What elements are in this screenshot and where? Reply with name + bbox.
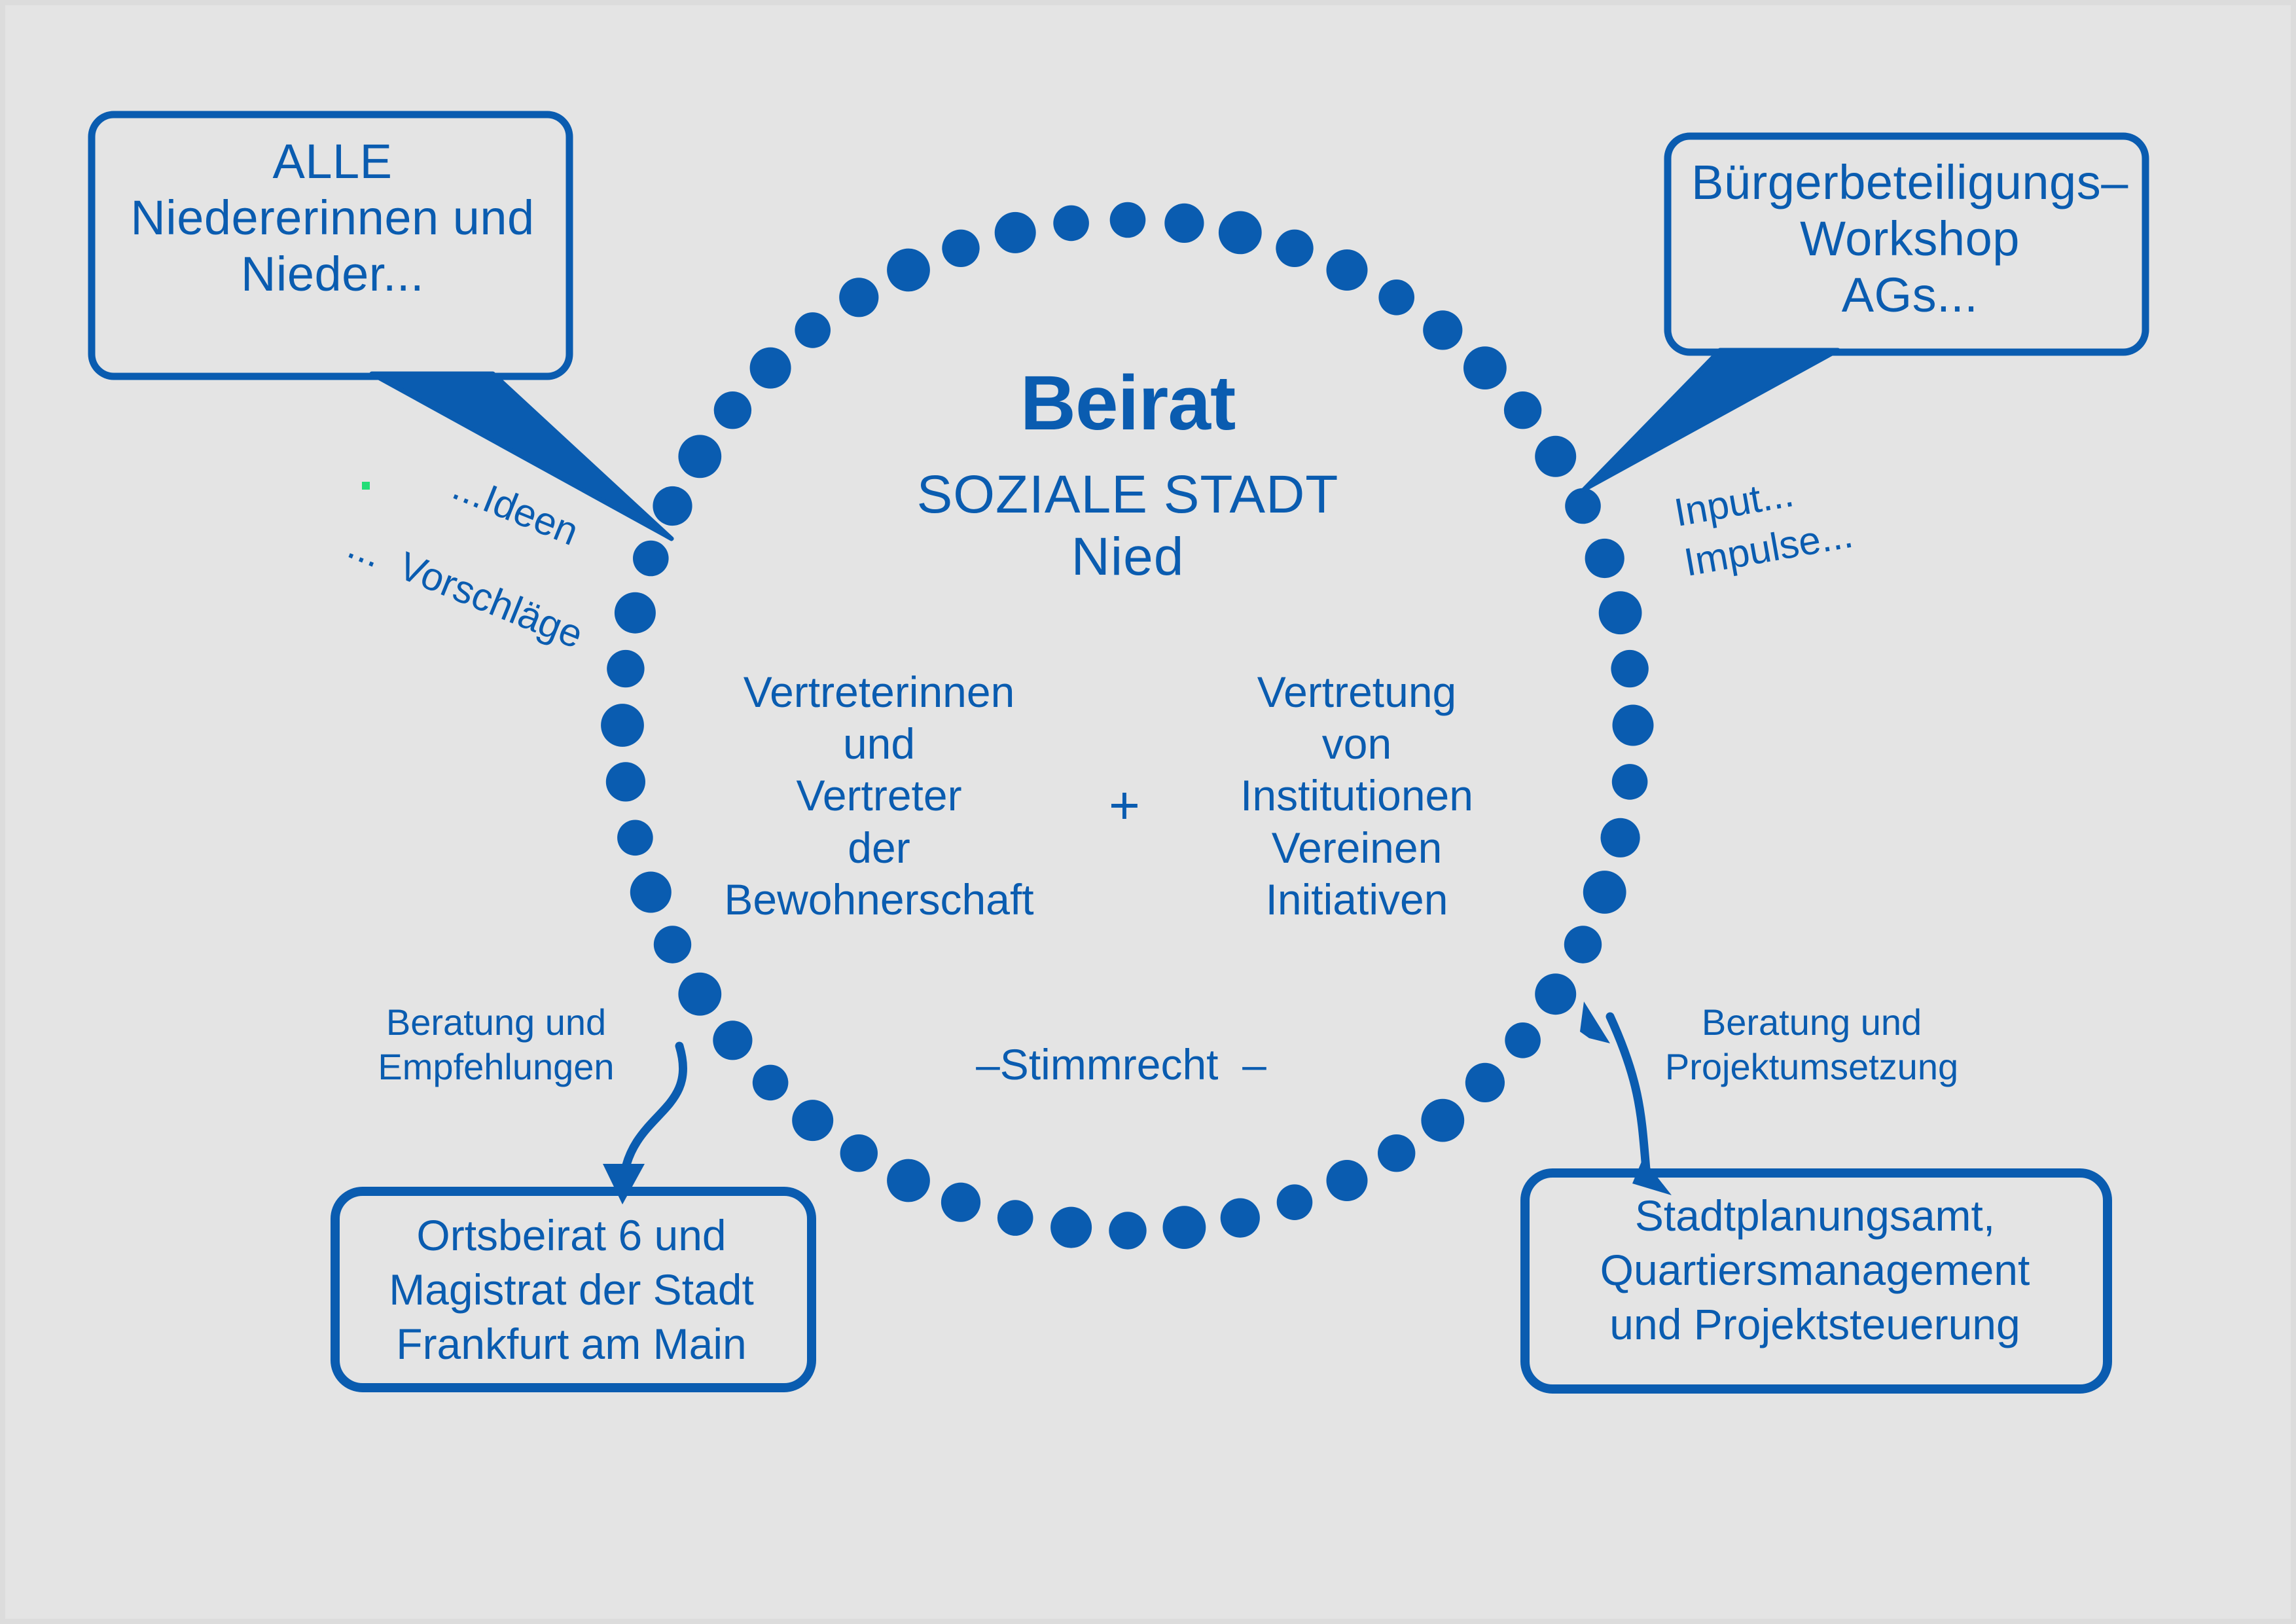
arrow-caption-left: Beratung und Empfehlungen bbox=[359, 1000, 634, 1090]
circle-dot bbox=[1277, 1184, 1313, 1220]
circle-dot bbox=[1050, 1207, 1092, 1248]
circle-dot bbox=[615, 592, 656, 634]
circle-dot bbox=[1564, 926, 1602, 963]
circle-dot bbox=[1423, 310, 1462, 350]
circle-dot bbox=[601, 704, 644, 747]
circle-dot bbox=[1163, 1206, 1206, 1249]
plus-symbol: + bbox=[1072, 774, 1177, 837]
circle-dot bbox=[607, 650, 644, 687]
arrow-left-down-head bbox=[603, 1164, 645, 1204]
circle-dot bbox=[1221, 1199, 1260, 1238]
circle-dot bbox=[942, 230, 979, 267]
circle-dot bbox=[995, 212, 1036, 253]
circle-dot bbox=[1378, 1134, 1415, 1172]
member-group-residents: Vertreterinnen und Vertreter der Bewohne… bbox=[696, 666, 1062, 926]
circle-dot bbox=[1565, 488, 1601, 524]
arrow-right-up-head bbox=[1580, 1001, 1610, 1043]
circle-dot bbox=[617, 820, 653, 856]
page-title: Beirat bbox=[866, 359, 1390, 448]
circle-dot bbox=[753, 1065, 789, 1101]
circle-dot bbox=[839, 278, 878, 317]
circle-dot bbox=[678, 973, 721, 1016]
circle-dot bbox=[1219, 211, 1262, 255]
circle-dot bbox=[997, 1200, 1033, 1236]
bubble-top-right-tail bbox=[1584, 350, 1838, 490]
box-bottom-right-label: Stadtplanungsamt, Quartiersmanagement un… bbox=[1534, 1189, 2096, 1352]
circle-dot bbox=[1109, 1212, 1146, 1249]
circle-dot bbox=[1465, 1063, 1505, 1102]
bubble-top-right-label: Bürgerbeteiligungs– Workshop AGs... bbox=[1681, 154, 2139, 323]
circle-dot bbox=[1164, 204, 1204, 243]
arrow-caption-right: Beratung und Projektumsetzung bbox=[1648, 1000, 1975, 1090]
circle-dot bbox=[654, 926, 691, 963]
circle-dot bbox=[714, 391, 751, 429]
circle-dot bbox=[1276, 230, 1313, 267]
circle-dot bbox=[653, 486, 692, 526]
circle-dot bbox=[1053, 206, 1089, 242]
voting-rights-note: –Stimmrecht – bbox=[931, 1039, 1311, 1090]
circle-dot bbox=[887, 249, 930, 292]
circle-dot bbox=[1378, 280, 1414, 316]
circle-dot bbox=[1535, 436, 1576, 477]
circle-dot bbox=[1613, 705, 1654, 746]
circle-dot bbox=[678, 435, 721, 478]
circle-dot bbox=[1535, 973, 1576, 1015]
circle-dot bbox=[1505, 1022, 1541, 1058]
arrow-right-shaft bbox=[1610, 1017, 1647, 1177]
circle-dot bbox=[840, 1134, 878, 1172]
circle-dot bbox=[633, 541, 669, 577]
circle-dot bbox=[713, 1020, 752, 1060]
circle-dot bbox=[1583, 871, 1626, 914]
circle-dot bbox=[630, 872, 672, 913]
bubble-top-left-label: ALLE Niedererinnen und Nieder... bbox=[103, 134, 562, 302]
subtitle-line-1: SOZIALE STADT bbox=[917, 465, 1339, 524]
circle-dot bbox=[750, 348, 791, 389]
circle-dot bbox=[941, 1183, 980, 1222]
circle-dot bbox=[1504, 391, 1541, 429]
circle-dot bbox=[795, 312, 831, 348]
circle-dot bbox=[1463, 346, 1507, 389]
circle-dot bbox=[1601, 818, 1640, 857]
circle-dot bbox=[1421, 1099, 1464, 1142]
circle-dot bbox=[1585, 539, 1624, 578]
page-subtitle: SOZIALE STADT Nied bbox=[866, 463, 1390, 588]
circle-dot bbox=[1110, 202, 1146, 238]
circle-dot bbox=[887, 1159, 930, 1202]
green-speck bbox=[362, 482, 370, 490]
circle-dot bbox=[1612, 764, 1648, 800]
circle-dot bbox=[792, 1100, 833, 1141]
subtitle-line-2: Nied bbox=[1071, 527, 1185, 586]
circle-dot bbox=[1327, 249, 1368, 291]
circle-dot bbox=[1327, 1160, 1368, 1201]
circle-dot bbox=[606, 762, 645, 801]
circle-dot bbox=[1599, 591, 1642, 634]
member-group-institutions: Vertretung von Institutionen Vereinen In… bbox=[1190, 666, 1524, 926]
diagram-canvas: ALLE Niedererinnen und Nieder... Bürgerb… bbox=[0, 0, 2296, 1624]
circle-dot bbox=[1611, 650, 1648, 687]
box-bottom-left-label: Ortsbeirat 6 und Magistrat der Stadt Fra… bbox=[342, 1208, 800, 1371]
